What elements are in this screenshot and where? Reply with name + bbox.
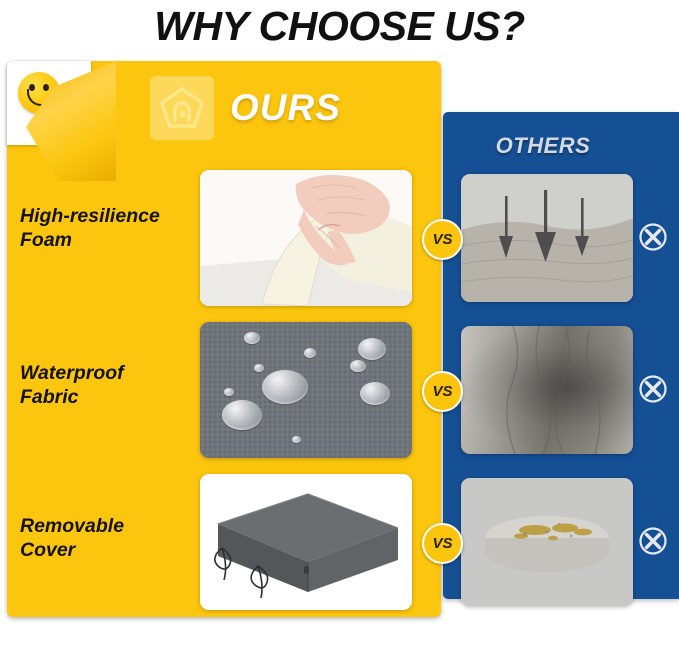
circle-x-icon: [638, 222, 668, 252]
sagging-foam-with-down-arrows-photo: [461, 174, 633, 302]
water-droplets-on-fabric-photo: [200, 322, 412, 458]
others-heading: OTHERS: [443, 133, 643, 159]
feature-label-foam: High-resilienceFoam: [20, 205, 195, 253]
hand-pinching-foam-photo: [200, 170, 412, 306]
vs-badge: VS: [422, 219, 463, 260]
stained-round-cushion-photo: [461, 478, 633, 606]
vs-badge: VS: [422, 371, 463, 412]
circle-x-icon: [638, 374, 668, 404]
ours-header: OURS: [150, 76, 341, 140]
vs-badge: VS: [422, 523, 463, 564]
circle-x-icon: [638, 526, 668, 556]
wet-stained-fabric-photo: [461, 326, 633, 454]
feature-label-fabric: WaterproofFabric: [20, 362, 195, 410]
ours-heading: OURS: [230, 87, 341, 129]
gray-cushion-with-ties-photo: [200, 474, 412, 610]
house-logo-icon: [150, 76, 214, 140]
page-title: WHY CHOOSE US?: [0, 0, 679, 52]
feature-label-cover: RemovableCover: [20, 515, 195, 563]
